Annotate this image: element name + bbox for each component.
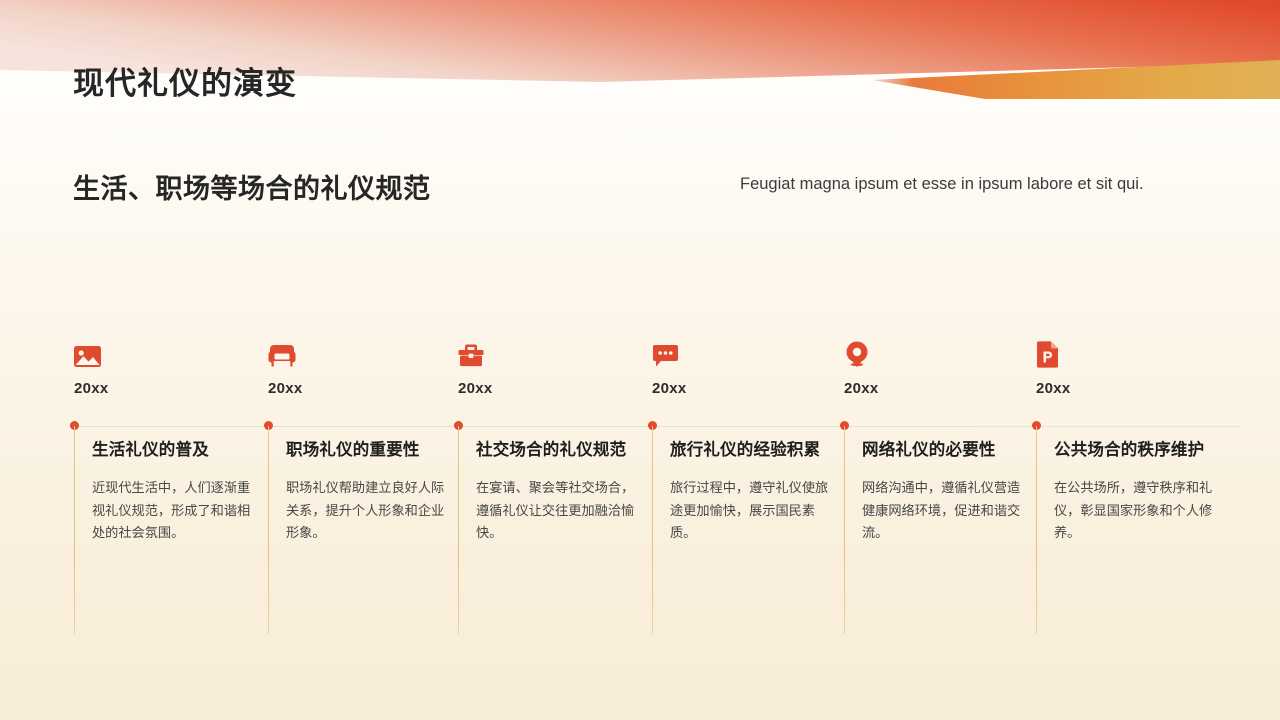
timeline-column[interactable]: 20xx 公共场合的秩序维护 在公共场所，遵守秩序和礼仪，彰显国家形象和个人修养… (1036, 330, 1226, 397)
timeline-column[interactable]: 20xx 旅行礼仪的经验积累 旅行过程中，遵守礼仪使旅途更加愉快，展示国民素质。 (652, 330, 842, 397)
card-body: 网络沟通中，遵循礼仪营造健康网络环境，促进和谐交流。 (862, 477, 1026, 544)
card-body: 在宴请、聚会等社交场合，遵循礼仪让交往更加融洽愉快。 (476, 477, 640, 544)
chat-bubble-icon (652, 330, 842, 368)
card-title: 生活礼仪的普及 (92, 440, 256, 461)
timeline-column[interactable]: 20xx 生活礼仪的普及 近现代生活中，人们逐渐重视礼仪规范，形成了和谐相处的社… (74, 330, 264, 397)
timeline-year: 20xx (268, 380, 458, 397)
timeline-year: 20xx (652, 380, 842, 397)
timeline-divider (74, 426, 75, 634)
timeline-divider (268, 426, 269, 634)
timeline-divider (1036, 426, 1037, 634)
timeline-card: 社交场合的礼仪规范 在宴请、聚会等社交场合，遵循礼仪让交往更加融洽愉快。 (476, 440, 640, 544)
slide: 现代礼仪的演变 生活、职场等场合的礼仪规范 Feugiat magna ipsu… (0, 0, 1280, 720)
location-pin-icon (844, 330, 1034, 368)
card-title: 社交场合的礼仪规范 (476, 440, 640, 461)
image-icon (74, 330, 264, 368)
timeline-column[interactable]: 20xx 网络礼仪的必要性 网络沟通中，遵循礼仪营造健康网络环境，促进和谐交流。 (844, 330, 1034, 397)
card-title: 旅行礼仪的经验积累 (670, 440, 834, 461)
timeline-year: 20xx (458, 380, 648, 397)
page-title: 现代礼仪的演变 (73, 58, 297, 103)
timeline-divider (458, 426, 459, 634)
lead-paragraph: Feugiat magna ipsum et esse in ipsum lab… (740, 171, 1192, 198)
card-title: 职场礼仪的重要性 (286, 440, 450, 461)
card-body: 近现代生活中，人们逐渐重视礼仪规范，形成了和谐相处的社会氛围。 (92, 477, 256, 544)
timeline-card: 职场礼仪的重要性 职场礼仪帮助建立良好人际关系，提升个人形象和企业形象。 (286, 440, 450, 544)
presentation-file-icon (1036, 330, 1226, 368)
timeline-divider (844, 426, 845, 634)
toolbox-icon (458, 330, 648, 368)
timeline-card: 生活礼仪的普及 近现代生活中，人们逐渐重视礼仪规范，形成了和谐相处的社会氛围。 (92, 440, 256, 544)
card-title: 网络礼仪的必要性 (862, 440, 1026, 461)
card-title: 公共场合的秩序维护 (1054, 440, 1218, 461)
timeline-column[interactable]: 20xx 社交场合的礼仪规范 在宴请、聚会等社交场合，遵循礼仪让交往更加融洽愉快… (458, 330, 648, 397)
card-body: 职场礼仪帮助建立良好人际关系，提升个人形象和企业形象。 (286, 477, 450, 544)
timeline-card: 网络礼仪的必要性 网络沟通中，遵循礼仪营造健康网络环境，促进和谐交流。 (862, 440, 1026, 544)
timeline-year: 20xx (1036, 380, 1226, 397)
card-body: 旅行过程中，遵守礼仪使旅途更加愉快，展示国民素质。 (670, 477, 834, 544)
timeline-card: 公共场合的秩序维护 在公共场所，遵守秩序和礼仪，彰显国家形象和个人修养。 (1054, 440, 1218, 544)
band-gold (872, 60, 1280, 99)
timeline-year: 20xx (74, 380, 264, 397)
card-body: 在公共场所，遵守秩序和礼仪，彰显国家形象和个人修养。 (1054, 477, 1218, 544)
section-subtitle: 生活、职场等场合的礼仪规范 (73, 167, 431, 206)
timeline-divider (652, 426, 653, 634)
armchair-icon (268, 330, 458, 368)
timeline-card: 旅行礼仪的经验积累 旅行过程中，遵守礼仪使旅途更加愉快，展示国民素质。 (670, 440, 834, 544)
timeline: 20xx 生活礼仪的普及 近现代生活中，人们逐渐重视礼仪规范，形成了和谐相处的社… (0, 330, 1280, 650)
timeline-column[interactable]: 20xx 职场礼仪的重要性 职场礼仪帮助建立良好人际关系，提升个人形象和企业形象… (268, 330, 458, 397)
timeline-year: 20xx (844, 380, 1034, 397)
